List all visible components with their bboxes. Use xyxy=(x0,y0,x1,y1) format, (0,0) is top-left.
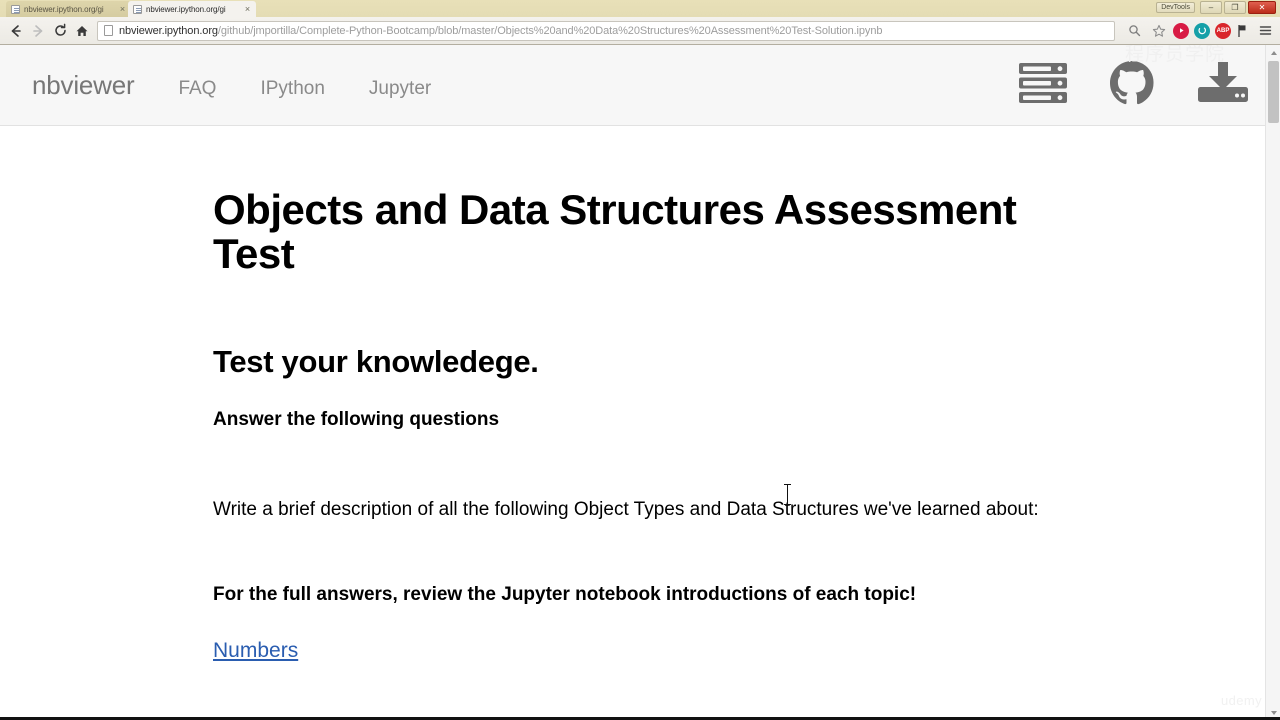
browser-tab-1[interactable]: nbviewer.ipython.org/gi × xyxy=(6,1,131,17)
back-arrow-icon[interactable] xyxy=(5,20,27,42)
page-viewport: nbviewer FAQ IPython Jupyter xyxy=(0,45,1280,720)
browser-tab-2[interactable]: nbviewer.ipython.org/gi × xyxy=(128,1,256,17)
tab-close-icon[interactable]: × xyxy=(118,5,127,14)
vertical-scrollbar[interactable] xyxy=(1265,45,1280,720)
page-title: Objects and Data Structures Assessment T… xyxy=(213,188,1073,276)
scroll-up-arrow-icon[interactable] xyxy=(1266,45,1280,60)
browser-tab-strip: nbviewer.ipython.org/gi × nbviewer.ipyth… xyxy=(0,0,1280,17)
instruction-text: Answer the following questions xyxy=(213,409,1280,431)
tab-title: nbviewer.ipython.org/gi xyxy=(146,5,243,14)
flag-extension-icon[interactable] xyxy=(1236,23,1249,39)
browser-extension-icons: ABP xyxy=(1170,20,1276,42)
star-icon[interactable] xyxy=(1148,20,1170,42)
media-play-extension-icon[interactable] xyxy=(1173,23,1189,39)
window-close-button[interactable]: ✕ xyxy=(1248,1,1276,14)
url-host: nbviewer.ipython.org xyxy=(119,25,218,37)
tab-favicon-icon xyxy=(11,5,20,14)
tab-title: nbviewer.ipython.org/gi xyxy=(24,5,118,14)
overlay-watermark-udemy: udemy xyxy=(1221,693,1262,708)
notebook-content: Objects and Data Structures Assessment T… xyxy=(0,126,1280,663)
adblock-plus-extension-icon[interactable]: ABP xyxy=(1215,23,1231,39)
browser-chrome: nbviewer.ipython.org/gi × nbviewer.ipyth… xyxy=(0,0,1280,45)
site-header-icons xyxy=(1018,59,1250,112)
body-paragraph: Write a brief description of all the fol… xyxy=(213,493,1173,526)
nav-link-faq[interactable]: FAQ xyxy=(156,78,238,100)
scrollbar-thumb[interactable] xyxy=(1268,61,1279,123)
nav-link-ipython[interactable]: IPython xyxy=(238,78,346,100)
section-subtitle: Test your knowledege. xyxy=(213,344,1280,380)
site-nav: nbviewer FAQ IPython Jupyter xyxy=(32,70,453,101)
forward-arrow-icon[interactable] xyxy=(27,20,49,42)
pocket-extension-icon[interactable] xyxy=(1194,23,1210,39)
home-icon[interactable] xyxy=(71,20,93,42)
tab-close-icon[interactable]: × xyxy=(243,5,252,14)
url-path: /github/jmportilla/Complete-Python-Bootc… xyxy=(218,25,882,37)
url-text: nbviewer.ipython.org/github/jmportilla/C… xyxy=(119,25,882,37)
devtools-badge[interactable]: DevTools xyxy=(1156,2,1195,13)
server-stack-icon[interactable] xyxy=(1018,61,1068,110)
github-octocat-icon[interactable] xyxy=(1108,59,1156,112)
nav-link-jupyter[interactable]: Jupyter xyxy=(347,78,453,100)
tab-favicon-icon xyxy=(133,5,142,14)
hamburger-menu-icon[interactable] xyxy=(1254,20,1276,42)
window-controls: DevTools – ❐ ✕ xyxy=(1156,1,1276,14)
browser-nav-bar: nbviewer.ipython.org/github/jmportilla/C… xyxy=(0,17,1280,45)
nbviewer-site-header: nbviewer FAQ IPython Jupyter xyxy=(0,45,1280,126)
page-info-icon xyxy=(104,25,113,36)
link-numbers[interactable]: Numbers xyxy=(213,639,298,663)
download-icon[interactable] xyxy=(1196,60,1250,111)
answers-note-text: For the full answers, review the Jupyter… xyxy=(213,584,1280,606)
reload-icon[interactable] xyxy=(49,20,71,42)
window-minimize-button[interactable]: – xyxy=(1200,1,1222,14)
tab-strip-empty-area xyxy=(256,1,1280,17)
window-maximize-button[interactable]: ❐ xyxy=(1224,1,1246,14)
omnibox-actions xyxy=(1123,20,1170,42)
site-brand-nbviewer[interactable]: nbviewer xyxy=(32,70,156,101)
address-bar[interactable]: nbviewer.ipython.org/github/jmportilla/C… xyxy=(97,21,1115,41)
magnifier-icon[interactable] xyxy=(1123,20,1145,42)
